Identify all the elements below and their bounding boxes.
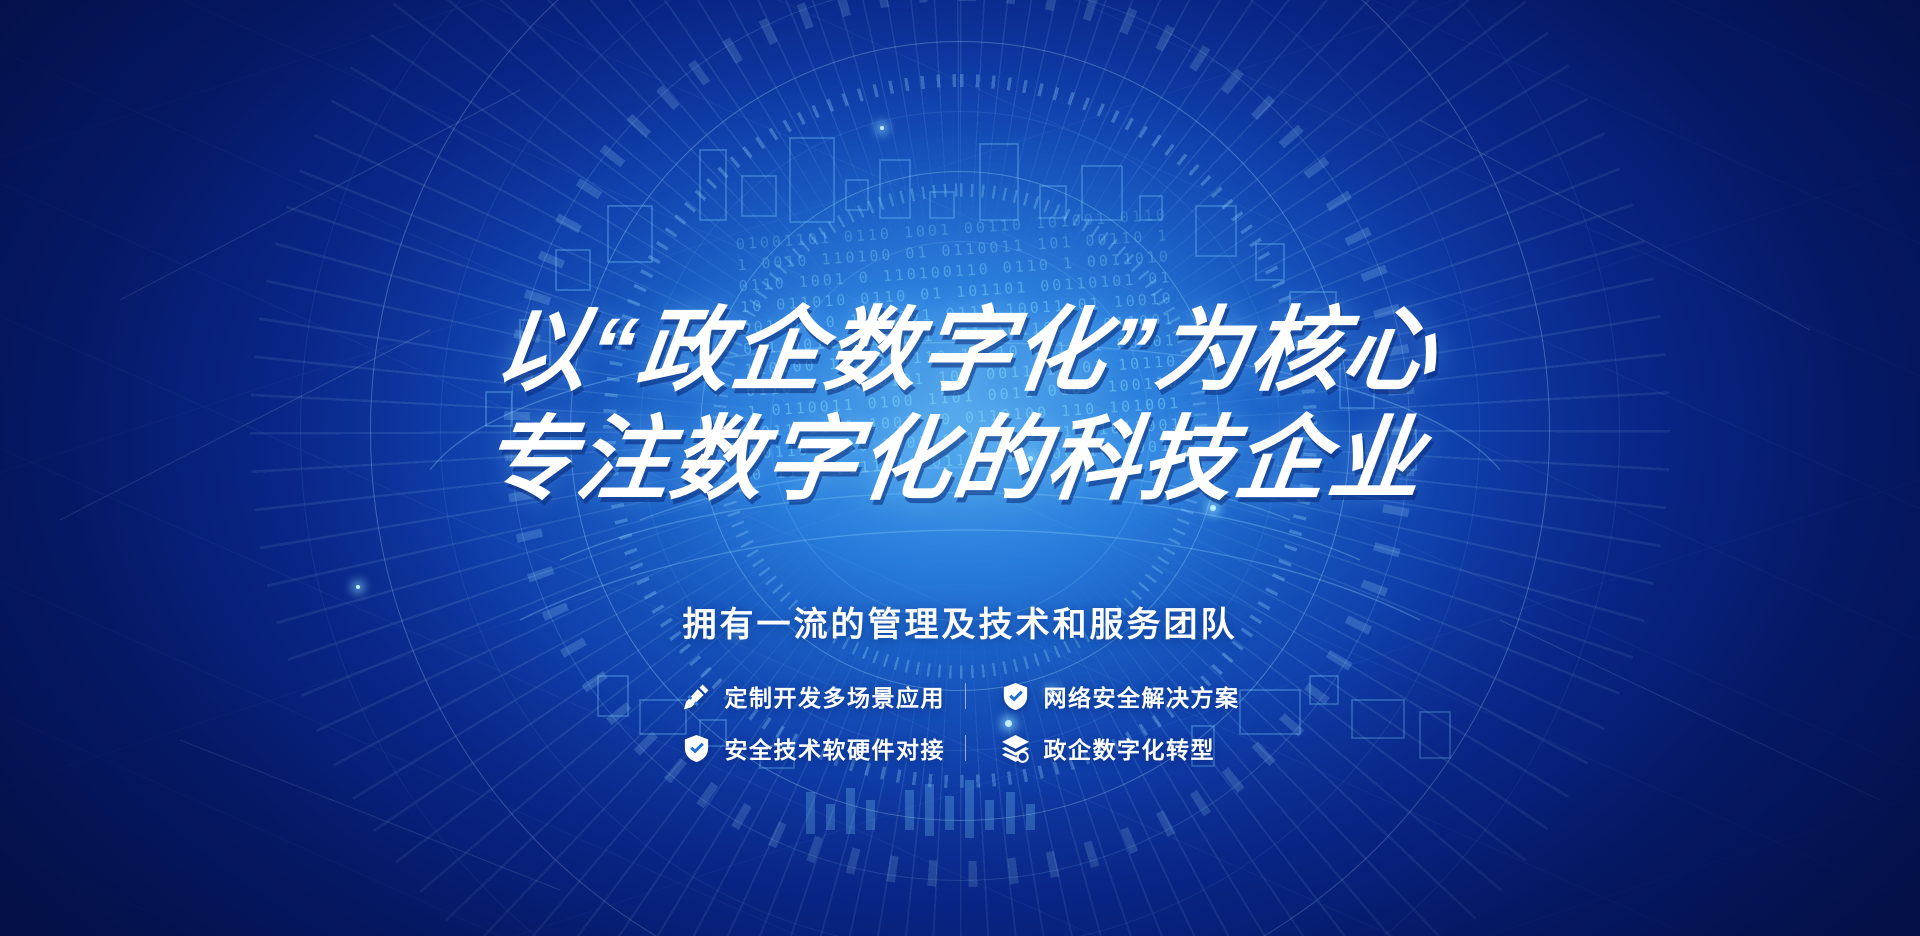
feature-row: 定制开发多场景应用 网络安全解决方案 bbox=[681, 679, 1240, 713]
feature-label: 安全技术软硬件对接 bbox=[725, 731, 946, 765]
headline-line-2: 专注数字化的科技企业 bbox=[476, 409, 1431, 512]
layers-search-icon bbox=[1000, 733, 1031, 764]
hero-banner: 01001101 0110 1001 00110 101001 0110 1 0… bbox=[0, 0, 1920, 936]
banner-content: 以“政企数字化”为核心 专注数字化的科技企业 拥有一流的管理及技术和服务团队 定… bbox=[0, 0, 1920, 936]
feature-divider bbox=[965, 735, 966, 761]
feature-divider bbox=[965, 683, 966, 709]
shield-check-icon bbox=[1000, 681, 1031, 712]
subtitle: 拥有一流的管理及技术和服务团队 bbox=[683, 597, 1238, 646]
feature-label: 定制开发多场景应用 bbox=[725, 679, 946, 713]
shield-check-icon bbox=[681, 733, 712, 764]
page-title: 以“政企数字化”为核心 专注数字化的科技企业 bbox=[476, 300, 1444, 512]
feature-item-network-security[interactable]: 网络安全解决方案 bbox=[1000, 679, 1240, 713]
feature-item-security-integration[interactable]: 安全技术软硬件对接 bbox=[681, 731, 931, 765]
feature-item-custom-development[interactable]: 定制开发多场景应用 bbox=[681, 679, 931, 713]
feature-label: 政企数字化转型 bbox=[1044, 731, 1216, 765]
feature-row: 安全技术软硬件对接 政企数字化转型 bbox=[681, 731, 1240, 765]
feature-label: 网络安全解决方案 bbox=[1044, 679, 1240, 713]
pencil-edit-icon bbox=[681, 681, 712, 712]
feature-item-digital-transformation[interactable]: 政企数字化转型 bbox=[1000, 731, 1216, 765]
headline-line-1: 以“政企数字化”为核心 bbox=[489, 300, 1444, 403]
feature-list: 定制开发多场景应用 网络安全解决方案 bbox=[681, 679, 1240, 765]
